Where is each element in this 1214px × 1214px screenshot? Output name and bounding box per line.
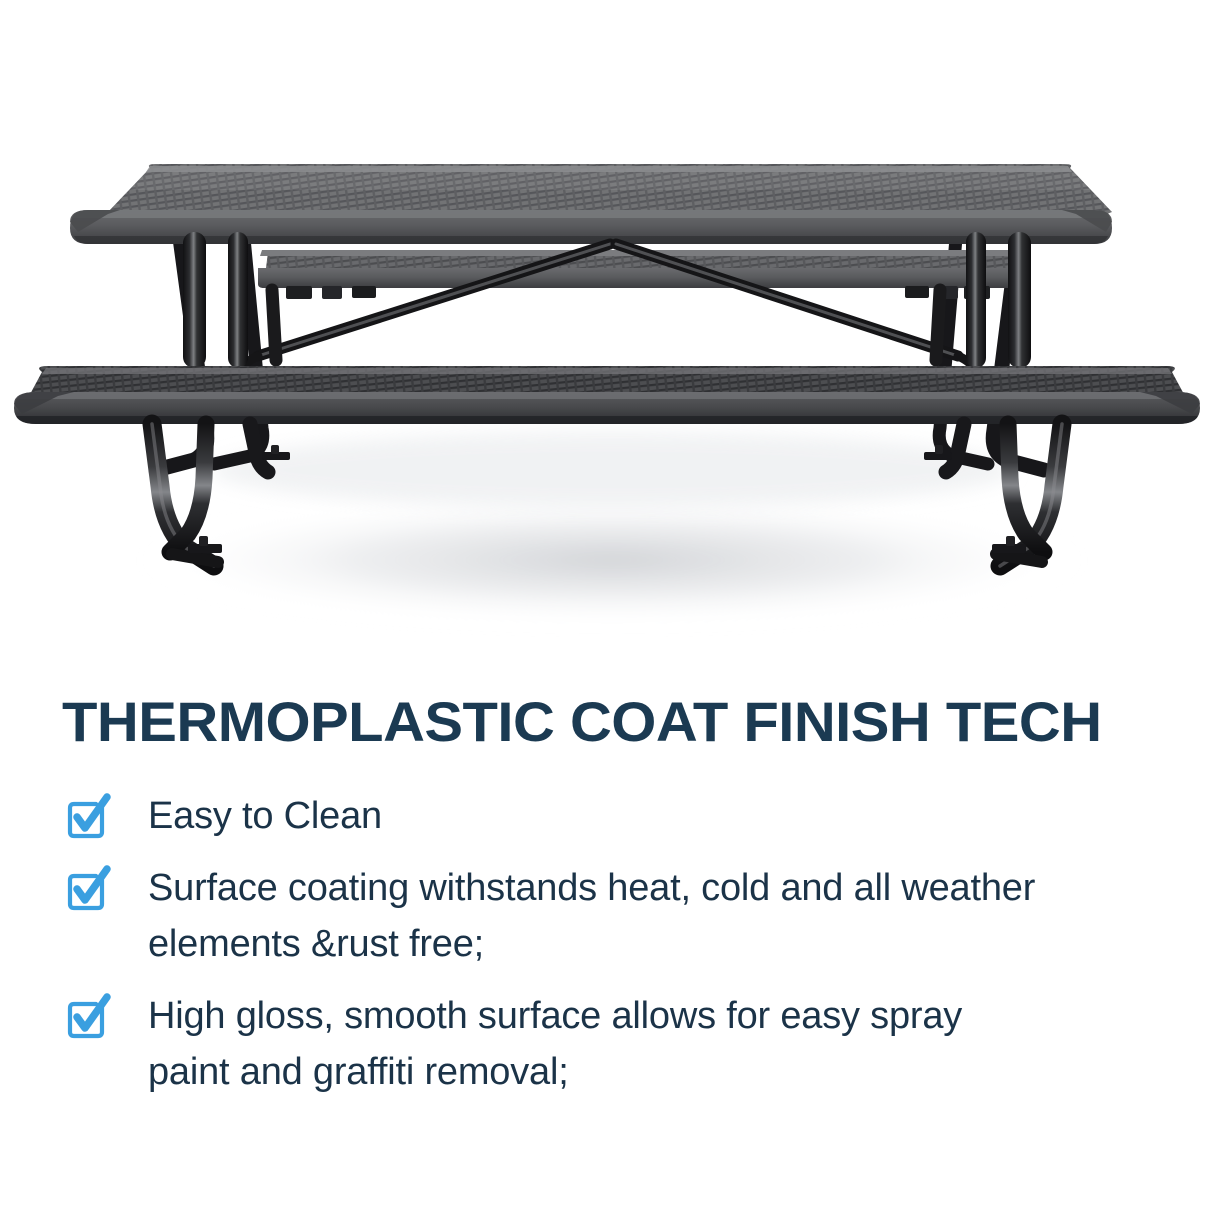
list-item-label: High gloss, smooth surface allows for ea…: [148, 988, 1048, 1100]
page-title: THERMOPLASTIC COAT FINISH TECH: [62, 692, 1211, 752]
list-item-label: Easy to Clean: [148, 788, 1188, 844]
ground-shadow: [142, 498, 1082, 622]
feature-content-block: THERMOPLASTIC COAT FINISH TECH Easy to C…: [0, 660, 1214, 1214]
list-item-label: Surface coating withstands heat, cold an…: [148, 860, 1188, 972]
checkbox-checked-icon: [62, 992, 110, 1040]
product-image: [0, 0, 1214, 660]
checkbox-checked-icon: [62, 864, 110, 912]
table-top: [70, 164, 1112, 244]
checkbox-checked-icon: [62, 792, 110, 840]
list-item: Surface coating withstands heat, cold an…: [58, 860, 1188, 972]
feature-list: Easy to Clean Surface coating withstands…: [58, 788, 1188, 1100]
ground-shadow-inner: [212, 432, 1012, 508]
list-item: Easy to Clean: [58, 788, 1188, 844]
list-item: High gloss, smooth surface allows for ea…: [58, 988, 1188, 1100]
picnic-table-illustration: [0, 0, 1214, 660]
front-bench-seat: [14, 366, 1200, 424]
